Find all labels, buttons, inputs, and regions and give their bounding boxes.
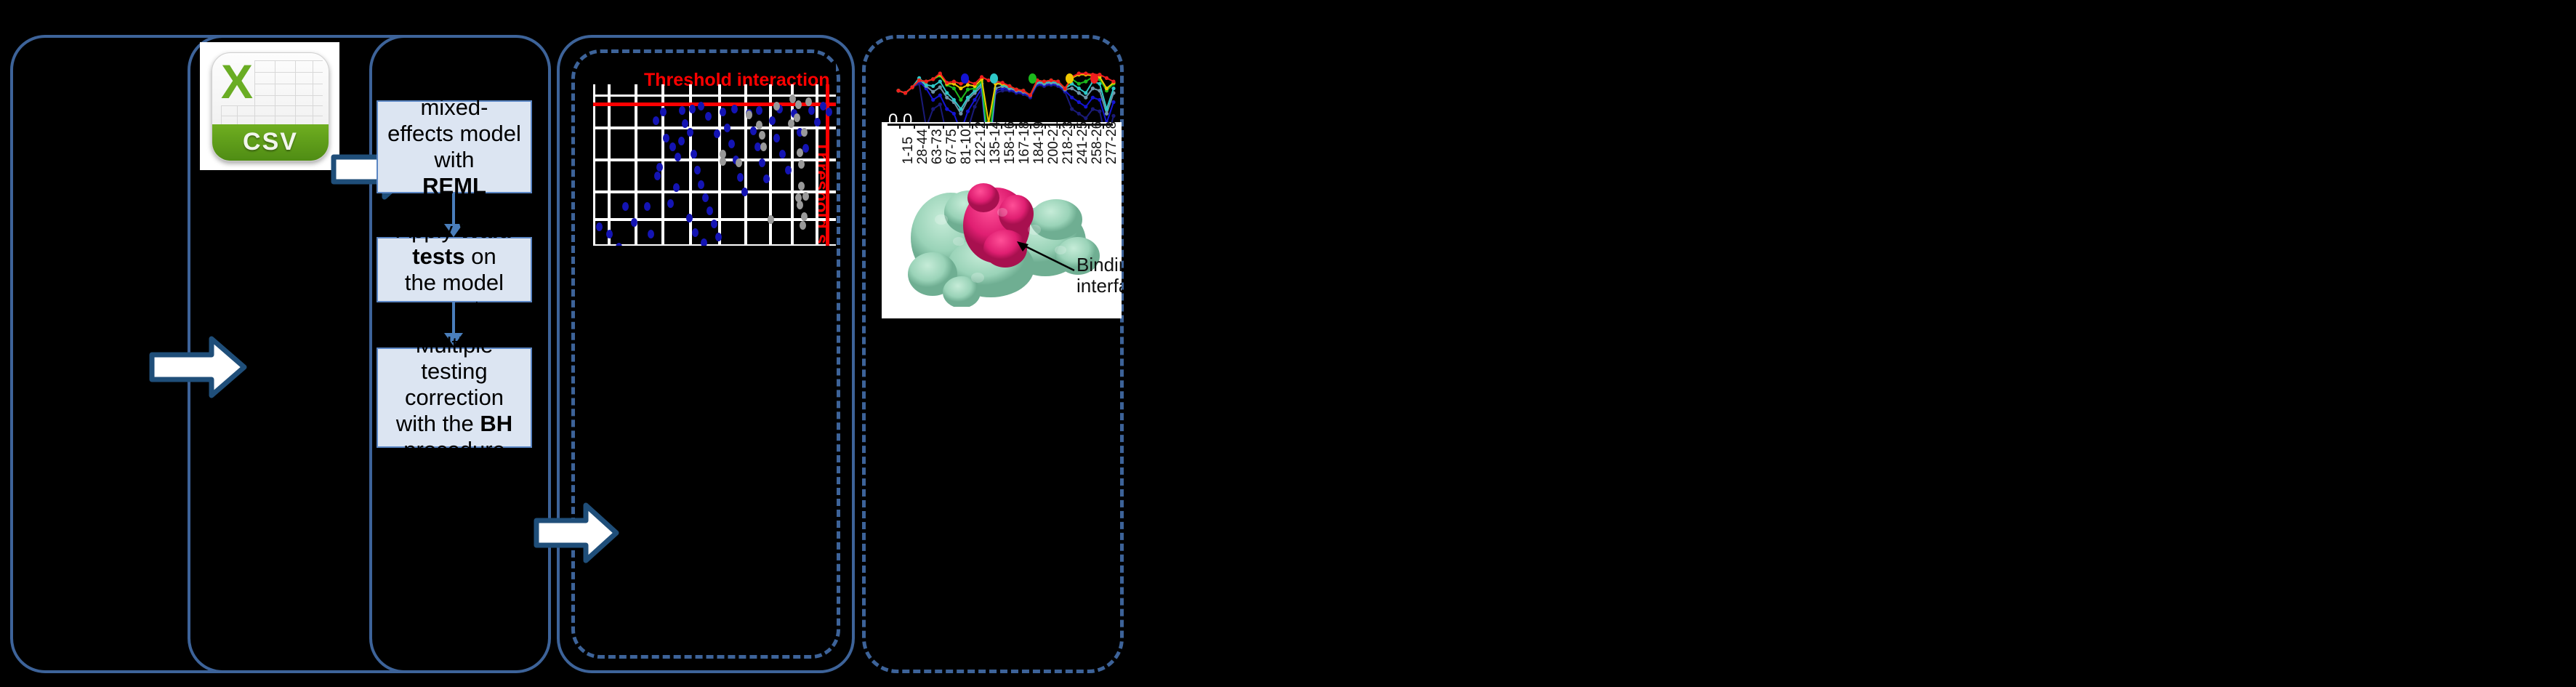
series-point (1001, 81, 1005, 84)
data-point (660, 108, 667, 116)
threshold-interaction-label: Threshold interaction (644, 70, 830, 91)
grid-line (593, 84, 595, 246)
peptide-tick-label: 63-73 (930, 129, 946, 164)
data-point (596, 222, 603, 231)
series-point (931, 84, 935, 88)
series-point (931, 98, 935, 102)
data-point-ns (736, 158, 742, 167)
excel-x-letter: X (221, 57, 253, 105)
peptide-tick-label: 1-15 (901, 137, 917, 164)
peptide-tick-mark (1074, 124, 1075, 129)
series-point (945, 91, 949, 95)
volcano-plot: Threshold interaction Threshold state (581, 64, 836, 246)
peptide-tick-label: 277-284 (1104, 122, 1120, 164)
data-point-ns (720, 157, 726, 166)
data-point-ns (768, 215, 774, 224)
csv-file-icon: X CSV (212, 52, 329, 161)
series-point (1111, 87, 1115, 90)
peptide-tick-mark (1030, 124, 1031, 129)
data-point (702, 193, 709, 202)
data-point (622, 202, 629, 211)
series-point (966, 83, 970, 87)
data-point (698, 102, 704, 111)
series-point (1098, 73, 1101, 76)
data-point (701, 238, 707, 246)
grid-line (593, 95, 836, 97)
data-point (679, 106, 685, 115)
grid-line (744, 84, 747, 246)
data-point (694, 166, 701, 174)
data-point-ns (798, 182, 805, 190)
data-point (654, 172, 661, 180)
protein-structure-card: Binding interface (882, 169, 1122, 307)
series-point (931, 107, 935, 111)
series-point (1105, 87, 1108, 90)
series-point (959, 87, 962, 90)
data-point (606, 230, 613, 238)
series-point (938, 103, 942, 106)
series-point (1105, 107, 1108, 111)
series-point (1091, 107, 1095, 111)
data-point-ns (756, 121, 762, 129)
data-point (773, 134, 780, 142)
data-point (707, 206, 713, 215)
data-point (769, 116, 776, 125)
series-point (931, 77, 935, 81)
data-point-ns (797, 148, 803, 157)
series-point (952, 80, 956, 84)
bh-line3post: procedure (403, 437, 505, 462)
data-point-ns (800, 221, 806, 230)
data-point (689, 105, 696, 113)
series-point (1077, 100, 1081, 104)
grid-line (608, 84, 611, 246)
peptide-tick-mark (1088, 124, 1090, 129)
data-point (673, 183, 680, 192)
series-point (952, 87, 956, 90)
data-point-ns (773, 102, 780, 111)
data-point (692, 228, 699, 237)
data-point-ns (759, 131, 765, 140)
data-point-ns (798, 160, 805, 169)
data-point (686, 214, 693, 222)
series-point (973, 82, 976, 86)
series-line (898, 73, 1114, 95)
marker-cyan (990, 73, 998, 84)
data-point-ns (801, 128, 808, 137)
data-point (779, 150, 786, 158)
bh-bold: BH (480, 411, 512, 436)
series-point (1111, 114, 1115, 118)
series-point (931, 90, 935, 94)
data-point (687, 128, 693, 137)
series-point (973, 98, 976, 102)
multiple-testing-box: Multiple testing correction with the BH … (377, 347, 532, 448)
peptide-tick-label: 28-44 (915, 129, 931, 164)
series-point (1056, 80, 1060, 84)
data-point (714, 129, 720, 138)
data-point (669, 142, 676, 151)
peptide-tick-mark (928, 124, 930, 129)
marker-blue (961, 73, 969, 84)
series-point (1042, 80, 1046, 84)
data-point (731, 105, 738, 113)
data-point-ns (805, 97, 812, 106)
grid-line (816, 84, 818, 246)
series-point (1098, 98, 1101, 102)
series-point (1015, 88, 1018, 92)
series-point (925, 80, 928, 84)
series-point (973, 105, 976, 108)
data-point-ns (797, 201, 803, 209)
series-point (1070, 87, 1074, 90)
data-point-ns (794, 113, 800, 122)
bh-line1: Multiple testing (416, 332, 494, 384)
series-point (1084, 80, 1087, 84)
series-point (1111, 80, 1115, 84)
series-point (1084, 116, 1087, 120)
series-point (1063, 87, 1067, 90)
data-point (705, 112, 712, 121)
peptide-tick-mark (899, 124, 901, 129)
data-point (653, 116, 659, 125)
data-point (698, 180, 704, 189)
peptide-tick-label: 67-75 (944, 129, 960, 164)
series-point (917, 79, 921, 82)
data-point (737, 173, 744, 182)
series-point (1091, 87, 1095, 90)
arrow-into-data (149, 334, 247, 400)
series-point (945, 96, 949, 100)
data-point (678, 137, 685, 145)
series-point (938, 80, 942, 84)
marker-green (1029, 73, 1037, 84)
data-point-ns (802, 192, 809, 201)
data-point (648, 230, 654, 238)
series-point (1070, 107, 1074, 111)
series-point (952, 112, 956, 116)
data-point (785, 166, 792, 174)
data-point (631, 218, 637, 227)
data-point (691, 150, 697, 158)
series-point (1084, 91, 1087, 95)
data-point (750, 126, 757, 135)
data-point (826, 108, 832, 116)
series-point (945, 81, 949, 84)
peptide-tick-mark (972, 124, 973, 129)
data-point (616, 243, 622, 246)
series-point (980, 75, 983, 79)
peptide-tick-mark (1015, 124, 1017, 129)
fit-model-line1: Fit a linear mixed- (402, 68, 507, 120)
binding-line1: Binding (1076, 254, 1122, 276)
data-point (711, 220, 717, 228)
series-point (938, 71, 942, 75)
data-point (644, 202, 651, 211)
peptide-tick-mark (957, 124, 959, 129)
series-point (1077, 71, 1081, 75)
data-point (724, 124, 730, 132)
series-point (1091, 96, 1095, 100)
data-point-ns (788, 119, 794, 128)
series-point (938, 93, 942, 97)
binding-interface-annotation: Binding interface (1076, 254, 1122, 297)
marker-red (1090, 73, 1098, 84)
data-point (759, 158, 765, 167)
series-point (1111, 100, 1115, 104)
series-point (1084, 71, 1087, 75)
data-point (682, 119, 688, 128)
binding-line2: interface (1076, 275, 1122, 297)
series-point (1021, 89, 1025, 92)
data-point-ns (801, 212, 808, 221)
bh-line3pre: with the (396, 411, 480, 436)
series-point (925, 83, 928, 87)
series-point (1077, 82, 1081, 86)
peptide-tick-mark (1059, 124, 1060, 129)
series-point (1105, 76, 1108, 80)
marker-yellow (1066, 73, 1074, 84)
series-point (1029, 93, 1032, 97)
peptide-tick-mark (1045, 124, 1046, 129)
series-point (938, 85, 942, 89)
series-point (1084, 96, 1087, 100)
series-point (952, 98, 956, 102)
series-point (959, 98, 962, 102)
bh-line2: correction (405, 385, 504, 410)
data-point (667, 199, 674, 208)
data-point (763, 174, 770, 183)
data-point (741, 188, 748, 196)
series-point (903, 91, 907, 95)
series-point (966, 88, 970, 92)
series-point (1070, 96, 1074, 100)
series-point (959, 112, 962, 116)
data-point (656, 163, 663, 172)
data-point (814, 118, 821, 126)
series-point (1050, 79, 1053, 82)
data-point (802, 144, 809, 153)
peptide-tick-mark (1103, 124, 1104, 129)
series-point (966, 110, 970, 113)
series-point (1098, 110, 1101, 113)
wald-line1post: on (465, 244, 496, 269)
data-point-ns (760, 142, 767, 151)
peptide-tick-mark (943, 124, 944, 129)
series-point (1007, 84, 1011, 88)
arrow-into-results (534, 502, 619, 564)
data-point (715, 233, 722, 241)
wald-tests-box: Apply Wald tests on the model parameters (377, 237, 532, 302)
wald-line1pre: Apply (396, 217, 459, 243)
series-point (1077, 112, 1081, 116)
series-point (1077, 87, 1081, 90)
series-point (896, 89, 900, 92)
csv-format-label: CSV (212, 124, 329, 161)
peptide-tick-mark (986, 124, 988, 129)
series-point (945, 107, 949, 111)
grid-line (593, 244, 836, 246)
series-point (911, 85, 914, 89)
data-point (728, 140, 735, 148)
series-point (1105, 112, 1108, 116)
data-point (756, 106, 762, 115)
csv-label-text: CSV (243, 128, 298, 156)
data-point (720, 108, 726, 116)
pipeline-figure: X CSV Fit a linear mixed- effects model … (0, 0, 2576, 687)
data-point (663, 134, 669, 142)
series-point (959, 107, 962, 111)
data-point (675, 153, 681, 161)
fit-model-box: Fit a linear mixed- effects model with R… (377, 100, 532, 193)
series-point (1084, 105, 1087, 108)
series-point (1077, 91, 1081, 95)
fit-model-line2: effects model with (387, 121, 521, 172)
data-point-ns (795, 100, 802, 109)
data-point (808, 106, 815, 115)
series-point (966, 96, 970, 100)
data-point-ns (746, 111, 752, 119)
peptide-tick-mark (914, 124, 915, 129)
peptide-tick-mark (1001, 124, 1002, 129)
